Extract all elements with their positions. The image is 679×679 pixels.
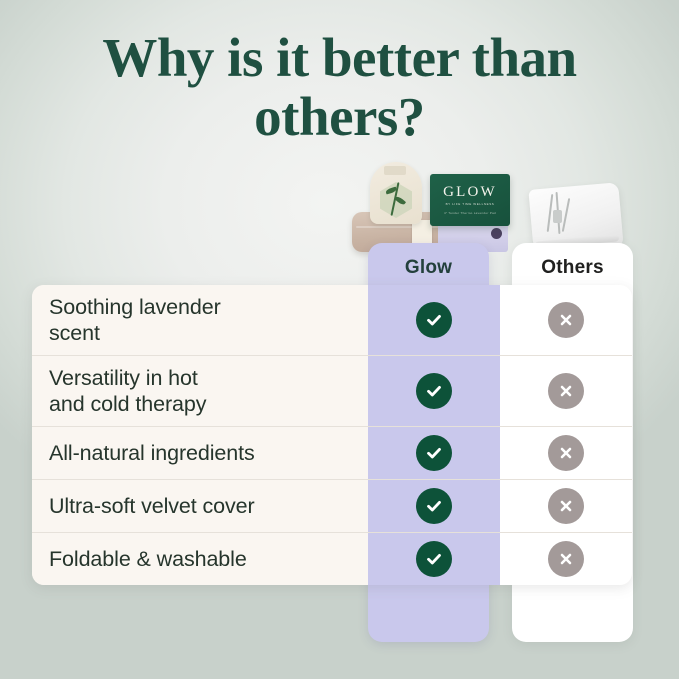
pouch-logo-tag — [384, 166, 406, 175]
cell-glow — [368, 356, 500, 426]
feature-label-line-1: Foldable & washable — [49, 546, 360, 572]
cell-glow — [368, 427, 500, 479]
feature-label: All-natural ingredients — [32, 440, 368, 466]
glow-box-description: 4" Tender Thermo Lavender Pad — [444, 211, 496, 215]
feature-label-line-1: Ultra-soft velvet cover — [49, 493, 360, 519]
cell-others — [500, 533, 632, 585]
cross-icon — [548, 435, 584, 471]
glow-box-subtitle: BY LIFE TIME WELLNESS — [446, 202, 495, 206]
check-icon — [416, 488, 452, 524]
glow-retail-box: GLOW BY LIFE TIME WELLNESS 4" Tender The… — [430, 174, 510, 226]
column-header-glow: Glow — [368, 257, 489, 279]
glow-tray-puck — [491, 228, 502, 239]
table-row: Soothing lavender scent — [32, 285, 632, 356]
check-icon — [416, 541, 452, 577]
feature-label-line-1: All-natural ingredients — [49, 440, 360, 466]
glow-box-wordmark: GLOW — [443, 185, 497, 200]
cross-icon — [548, 302, 584, 338]
cross-icon — [548, 541, 584, 577]
feature-label: Soothing lavender scent — [32, 294, 368, 346]
cell-others — [500, 285, 632, 355]
page-title-line-2: others? — [40, 87, 639, 146]
cell-glow — [368, 533, 500, 585]
cross-icon — [548, 488, 584, 524]
feature-label-line-2: and cold therapy — [49, 391, 360, 417]
check-icon — [416, 302, 452, 338]
page-title: Why is it better than others? — [0, 28, 679, 147]
table-row: Versatility in hot and cold therapy — [32, 356, 632, 427]
column-header-others: Others — [512, 257, 633, 279]
glow-lavender-pouch — [370, 162, 422, 224]
cell-others — [500, 480, 632, 532]
feature-label: Versatility in hot and cold therapy — [32, 365, 368, 417]
cell-glow — [368, 285, 500, 355]
page-title-line-1: Why is it better than — [102, 27, 576, 88]
comparison-table: Soothing lavender scent Versatility in h… — [32, 285, 632, 585]
feature-label: Ultra-soft velvet cover — [32, 493, 368, 519]
table-row: Foldable & washable — [32, 533, 632, 585]
cell-others — [500, 427, 632, 479]
power-controller-icon — [553, 210, 562, 223]
feature-label-line-1: Soothing lavender — [49, 294, 360, 320]
cell-others — [500, 356, 632, 426]
table-row: All-natural ingredients — [32, 427, 632, 480]
feature-label-line-2: scent — [49, 320, 360, 346]
cross-icon — [548, 373, 584, 409]
check-icon — [416, 435, 452, 471]
table-row: Ultra-soft velvet cover — [32, 480, 632, 533]
comparison-infographic: Why is it better than others? GLOW BY LI… — [0, 0, 679, 679]
check-icon — [416, 373, 452, 409]
feature-label: Foldable & washable — [32, 546, 368, 572]
cell-glow — [368, 480, 500, 532]
feature-label-line-1: Versatility in hot — [49, 365, 360, 391]
